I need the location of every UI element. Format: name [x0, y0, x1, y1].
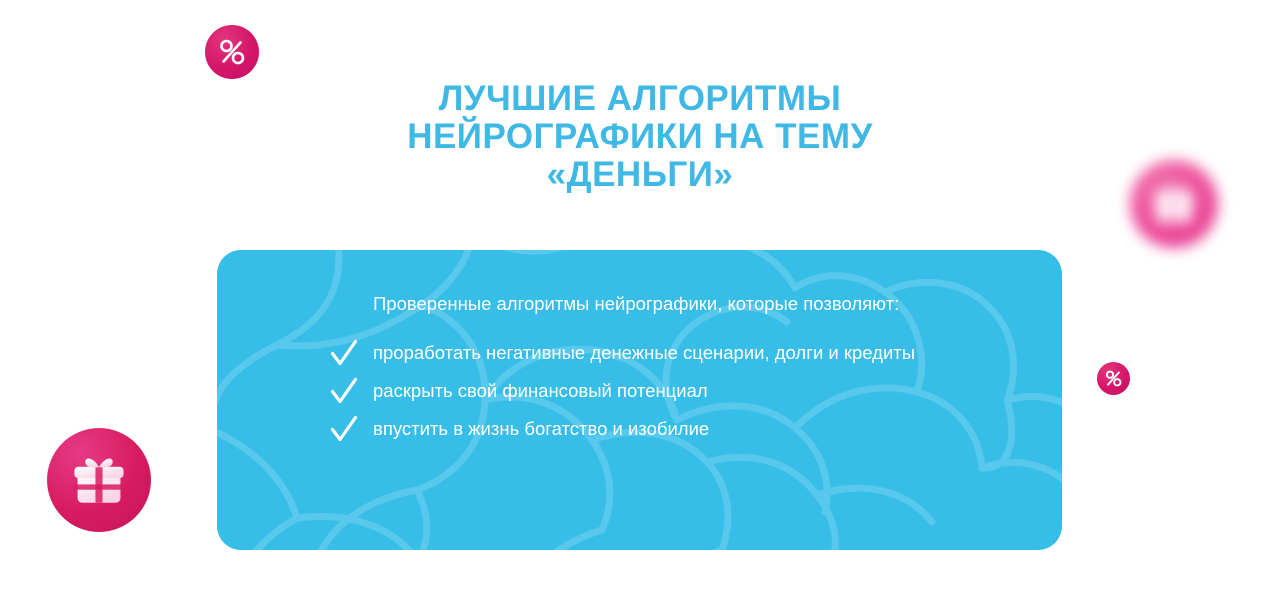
slide-root: ЛУЧШИЕ АЛГОРИТМЫ НЕЙРОГРАФИКИ НА ТЕМУ «Д…	[0, 0, 1280, 600]
card-intro-text: Проверенные алгоритмы нейрографики, кото…	[373, 288, 973, 319]
percent-badge-right	[1097, 362, 1130, 395]
card-content: Проверенные алгоритмы нейрографики, кото…	[217, 250, 1062, 445]
benefits-card: Проверенные алгоритмы нейрографики, кото…	[217, 250, 1062, 550]
list-item: проработать негативные денежные сценарии…	[329, 337, 1062, 369]
check-icon	[329, 415, 359, 445]
page-title: ЛУЧШИЕ АЛГОРИТМЫ НЕЙРОГРАФИКИ НА ТЕМУ «Д…	[0, 80, 1280, 194]
percent-badge-top-left	[205, 25, 259, 79]
gift-icon	[70, 451, 128, 509]
list-item-label: раскрыть свой финансовый потенциал	[373, 375, 973, 406]
list-item-label: проработать негативные денежные сценарии…	[373, 337, 973, 368]
check-icon	[329, 377, 359, 407]
title-line-1: ЛУЧШИЕ АЛГОРИТМЫ	[0, 80, 1280, 118]
gift-badge-bottom-left	[47, 428, 151, 532]
percent-icon	[1104, 369, 1123, 388]
benefits-list: проработать негативные денежные сценарии…	[217, 337, 1062, 445]
percent-icon	[217, 37, 247, 67]
list-item: раскрыть свой финансовый потенциал	[329, 375, 1062, 407]
title-line-3: «ДЕНЬГИ»	[0, 156, 1280, 194]
list-item: впустить в жизнь богатство и изобилие	[329, 413, 1062, 445]
check-icon	[329, 339, 359, 369]
title-line-2: НЕЙРОГРАФИКИ НА ТЕМУ	[0, 118, 1280, 156]
gift-icon	[1151, 181, 1197, 227]
list-item-label: впустить в жизнь богатство и изобилие	[373, 413, 973, 444]
gift-badge-right-blurred	[1130, 160, 1218, 248]
